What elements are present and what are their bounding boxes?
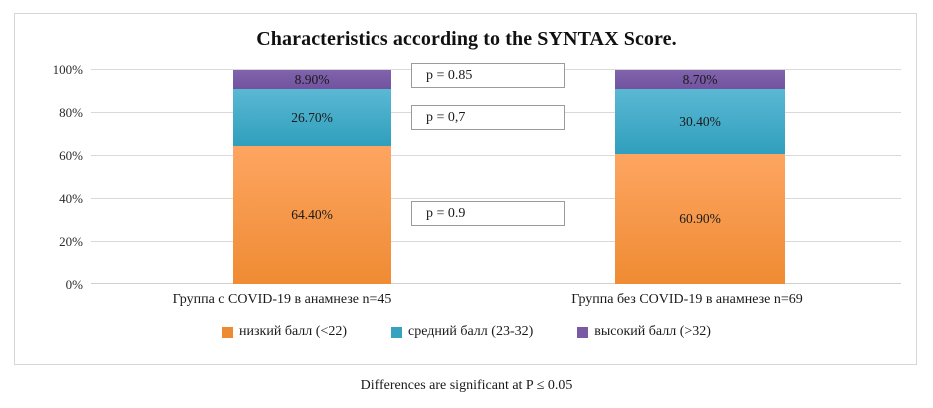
pvalue-box-high: p = 0.85 bbox=[411, 63, 565, 88]
stacked-bar-group-1[interactable]: 8.90% 26.70% 64.40% bbox=[233, 70, 391, 284]
chart-title: Characteristics according to the SYNTAX … bbox=[15, 28, 918, 51]
bar-segment-mid-1[interactable]: 26.70% bbox=[233, 89, 391, 146]
bar-segment-low-1[interactable]: 64.40% bbox=[233, 146, 391, 284]
bar-segment-label-low-2: 60.90% bbox=[679, 211, 721, 227]
pvalue-box-mid: p = 0,7 bbox=[411, 105, 565, 130]
legend-label-low: низкий балл (<22) bbox=[239, 324, 347, 340]
legend-item-mid[interactable]: средний балл (23-32) bbox=[391, 324, 533, 340]
plot-area: 8.90% 26.70% 64.40% 8.70% 30.40% 60.90% bbox=[91, 69, 901, 284]
bar-segment-label-mid-1: 26.70% bbox=[291, 110, 333, 126]
y-axis-tick-0: 0% bbox=[15, 277, 83, 293]
legend-label-high: высокий балл (>32) bbox=[594, 324, 711, 340]
bar-segment-label-low-1: 64.40% bbox=[291, 207, 333, 223]
y-axis-tick-20: 20% bbox=[15, 234, 83, 250]
chart-container: Characteristics according to the SYNTAX … bbox=[14, 13, 917, 365]
bar-segment-label-high-1: 8.90% bbox=[295, 72, 330, 88]
legend-swatch-mid-icon bbox=[391, 327, 402, 338]
bar-segment-high-1[interactable]: 8.90% bbox=[233, 70, 391, 89]
bar-segment-low-2[interactable]: 60.90% bbox=[615, 154, 785, 284]
bar-segment-mid-2[interactable]: 30.40% bbox=[615, 89, 785, 154]
legend-item-low[interactable]: низкий балл (<22) bbox=[222, 324, 347, 340]
bar-segment-label-high-2: 8.70% bbox=[683, 72, 718, 88]
x-axis-category-label-2: Группа без COVID-19 в анамнезе n=69 bbox=[473, 292, 901, 308]
y-axis-tick-80: 80% bbox=[15, 105, 83, 121]
legend-swatch-high-icon bbox=[577, 327, 588, 338]
legend-item-high[interactable]: высокий балл (>32) bbox=[577, 324, 711, 340]
pvalue-box-low: p = 0.9 bbox=[411, 201, 565, 226]
x-axis-category-label-1: Группа с COVID-19 в анамнезе n=45 bbox=[91, 292, 473, 308]
bar-segment-label-mid-2: 30.40% bbox=[679, 114, 721, 130]
legend-label-mid: средний балл (23-32) bbox=[408, 324, 533, 340]
y-axis-tick-60: 60% bbox=[15, 148, 83, 164]
chart-legend: низкий балл (<22) средний балл (23-32) в… bbox=[15, 324, 918, 340]
stacked-bar-group-2[interactable]: 8.70% 30.40% 60.90% bbox=[615, 70, 785, 284]
figure-caption: Differences are significant at P ≤ 0.05 bbox=[0, 378, 933, 394]
legend-swatch-low-icon bbox=[222, 327, 233, 338]
y-axis-tick-100: 100% bbox=[15, 62, 83, 78]
y-axis-tick-40: 40% bbox=[15, 191, 83, 207]
bar-segment-high-2[interactable]: 8.70% bbox=[615, 70, 785, 89]
